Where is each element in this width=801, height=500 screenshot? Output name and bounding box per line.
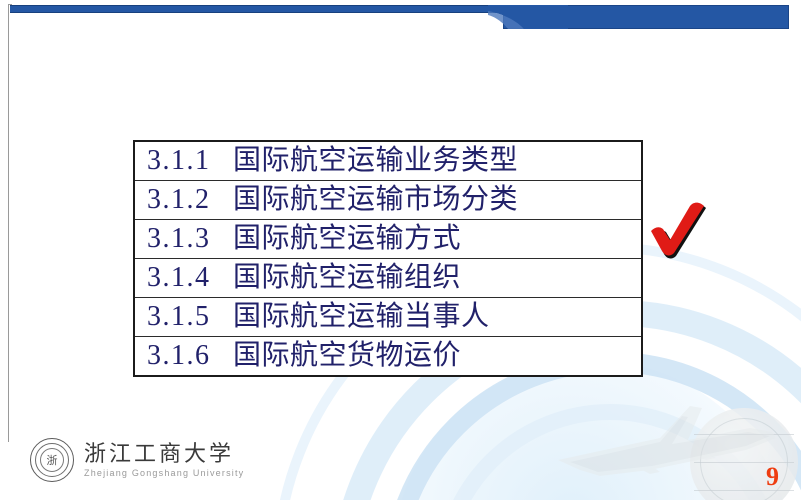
table-row[interactable]: 3.1.2 国际航空运输市场分类 — [134, 181, 642, 220]
university-name-en: Zhejiang Gongshang University — [84, 468, 244, 478]
table-row[interactable]: 3.1.6 国际航空货物运价 — [134, 337, 642, 377]
toc-title: 国际航空运输当事人 — [233, 301, 490, 332]
toc-cell[interactable]: 3.1.1 国际航空运输业务类型 — [134, 141, 642, 181]
university-seal-icon: 浙 — [30, 438, 74, 482]
toc-number: 3.1.1 — [147, 145, 211, 176]
globe-latitude-line — [694, 490, 794, 491]
watermark-arc-3 — [434, 404, 786, 500]
toc-title: 国际航空运输市场分类 — [233, 184, 518, 215]
university-name-cn: 浙江工商大学 — [84, 442, 244, 465]
toc-number: 3.1.3 — [147, 223, 211, 254]
toc-cell[interactable]: 3.1.5 国际航空运输当事人 — [134, 298, 642, 337]
toc-table: 3.1.1 国际航空运输业务类型 3.1.2 国际航空运输市场分类 3.1.3 … — [133, 140, 643, 377]
toc-title: 国际航空运输业务类型 — [233, 145, 518, 176]
table-row[interactable]: 3.1.1 国际航空运输业务类型 — [134, 141, 642, 181]
decorative-band-swoosh — [488, 5, 568, 29]
toc-cell[interactable]: 3.1.6 国际航空货物运价 — [134, 337, 642, 377]
toc-table-body: 3.1.1 国际航空运输业务类型 3.1.2 国际航空运输市场分类 3.1.3 … — [134, 141, 642, 376]
globe-latitude-line — [694, 434, 794, 435]
table-row[interactable]: 3.1.3 国际航空运输方式 — [134, 220, 642, 259]
airplane-watermark-icon — [540, 398, 790, 480]
toc-cell[interactable]: 3.1.2 国际航空运输市场分类 — [134, 181, 642, 220]
toc-number: 3.1.2 — [147, 184, 211, 215]
page-number: 9 — [766, 462, 779, 492]
toc-number: 3.1.5 — [147, 301, 211, 332]
toc-number: 3.1.4 — [147, 262, 211, 293]
toc-title: 国际航空运输组织 — [233, 262, 461, 293]
toc-title: 国际航空运输方式 — [233, 223, 461, 254]
toc-title: 国际航空货物运价 — [233, 340, 461, 371]
slide-canvas: 3.1.1 国际航空运输业务类型 3.1.2 国际航空运输市场分类 3.1.3 … — [0, 0, 801, 500]
university-logo: 浙 浙江工商大学 Zhejiang Gongshang University — [30, 438, 244, 482]
toc-cell[interactable]: 3.1.4 国际航空运输组织 — [134, 259, 642, 298]
globe-latitude-line — [694, 462, 794, 463]
table-row[interactable]: 3.1.5 国际航空运输当事人 — [134, 298, 642, 337]
slide-left-edge-rule — [8, 4, 9, 442]
seal-glyph: 浙 — [47, 452, 58, 468]
arc-glow — [392, 360, 792, 500]
toc-number: 3.1.6 — [147, 340, 211, 371]
university-logo-text: 浙江工商大学 Zhejiang Gongshang University — [84, 442, 244, 477]
table-row[interactable]: 3.1.4 国际航空运输组织 — [134, 259, 642, 298]
checkmark-icon — [648, 200, 712, 260]
toc-cell[interactable]: 3.1.3 国际航空运输方式 — [134, 220, 642, 259]
globe-watermark-icon — [690, 408, 798, 500]
